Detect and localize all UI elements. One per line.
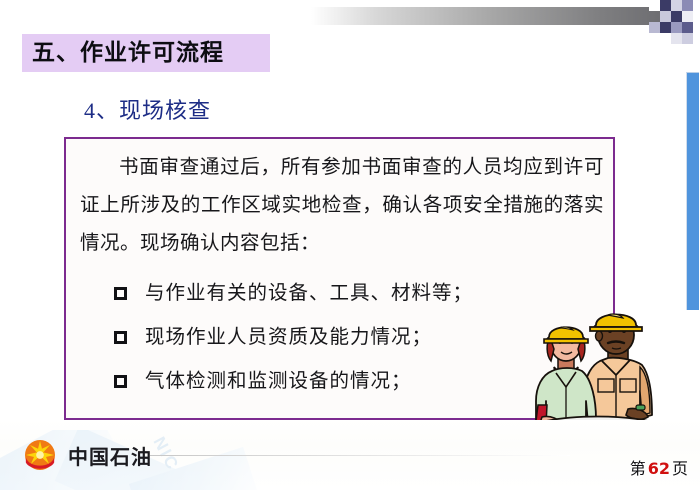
checker-square-2 — [671, 0, 682, 11]
bullet-item: 气体检测和监测设备的情况； — [114, 367, 584, 411]
subtitle-text: 4、现场核查 — [84, 93, 211, 125]
bullet-list: 与作业有关的设备、工具、材料等；现场作业人员资质及能力情况；气体检测和监测设备的… — [114, 279, 584, 411]
hollow-square-bullet-icon — [114, 331, 127, 344]
checker-square-0 — [649, 0, 660, 11]
hollow-square-bullet-icon — [114, 375, 127, 388]
page-number-value: 62 — [646, 459, 672, 478]
checker-square-11 — [671, 33, 682, 44]
footer-hairline — [150, 455, 570, 456]
checker-square-8 — [660, 22, 671, 33]
right-accent-bar — [686, 72, 699, 310]
bullet-item-label: 气体检测和监测设备的情况； — [145, 367, 412, 397]
slide-canvas: 五、作业许可流程 4、现场核查 书面审查通过后，所有参加书面审查的人员均应到许可… — [0, 0, 700, 490]
bullet-item: 现场作业人员资质及能力情况； — [114, 323, 584, 367]
checker-square-9 — [671, 22, 682, 33]
bullet-item-label: 与作业有关的设备、工具、材料等； — [145, 279, 473, 309]
checker-square-6 — [682, 11, 693, 22]
top-gradient-bar — [311, 7, 666, 25]
checker-square-4 — [660, 11, 671, 22]
page-number-prefix: 第 — [630, 461, 646, 478]
body-paragraph: 书面审查通过后，所有参加书面审查的人员均应到许可证上所涉及的工作区域实地检查，确… — [80, 149, 604, 263]
hollow-square-bullet-icon — [114, 287, 127, 300]
checker-square-7 — [649, 22, 660, 33]
page-number-suffix: 页 — [672, 461, 688, 478]
page-number: 第62页 — [630, 455, 688, 479]
bullet-item: 与作业有关的设备、工具、材料等； — [114, 279, 584, 323]
checker-square-3 — [682, 0, 693, 11]
petrochina-logo-icon — [20, 435, 60, 475]
checker-square-12 — [682, 33, 693, 44]
worker-left — [536, 327, 596, 429]
section-title-chip: 五、作业许可流程 — [22, 34, 270, 72]
checker-square-5 — [671, 11, 682, 22]
checker-square-10 — [682, 22, 693, 33]
brand-lockup: 中国石油 — [20, 435, 152, 475]
bullet-item-label: 现场作业人员资质及能力情况； — [145, 323, 432, 353]
brand-name-text: 中国石油 — [68, 441, 152, 470]
section-title-text: 五、作业许可流程 — [32, 42, 224, 65]
checker-square-1 — [660, 0, 671, 11]
